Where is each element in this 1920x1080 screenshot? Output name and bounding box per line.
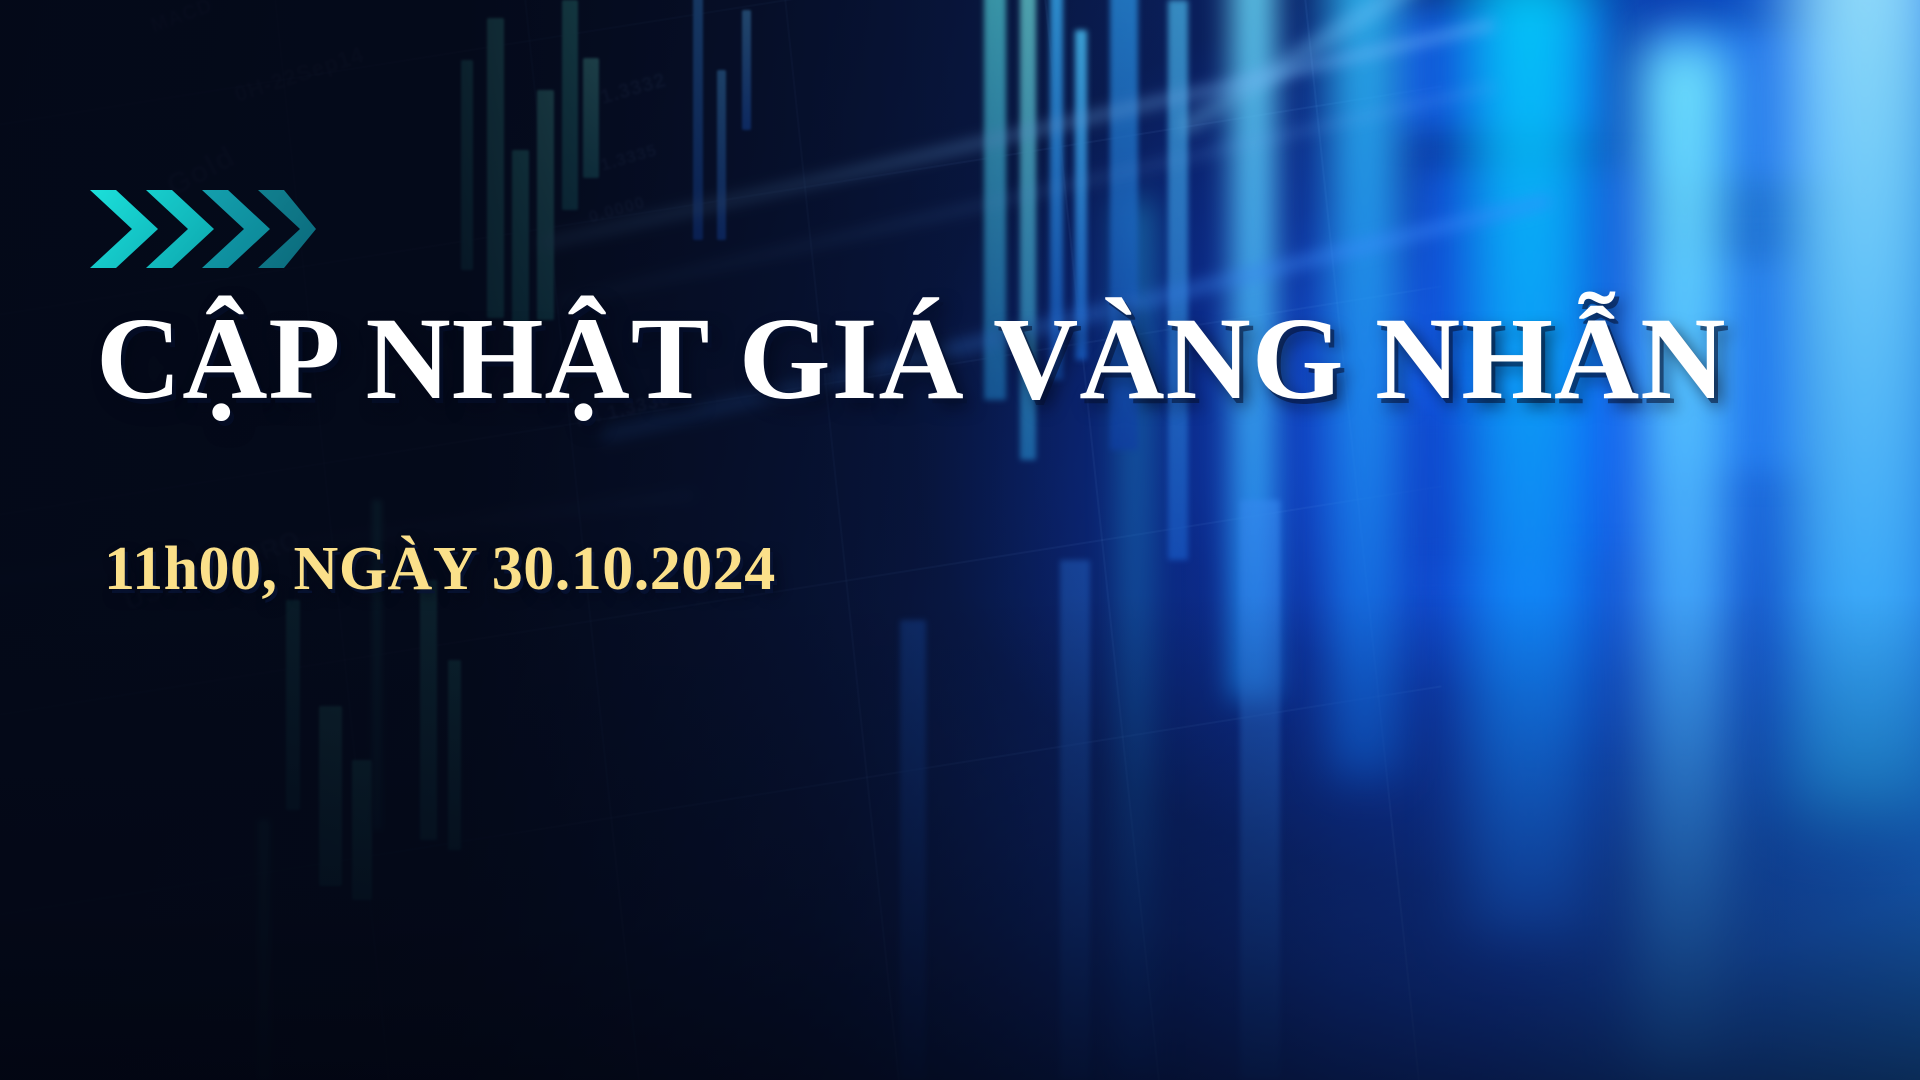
banner-content: CẬP NHẬT GIÁ VÀNG NHẪN 11h00, NGÀY 30.10… xyxy=(0,0,1920,1080)
chevron-arrows-svg xyxy=(88,188,318,270)
page-title: CẬP NHẬT GIÁ VÀNG NHẪN xyxy=(96,300,1436,418)
banner-root: Gold USD/JPY PRO 0H-22Sep14 1.3332 0.000… xyxy=(0,0,1920,1080)
timestamp-subtitle: 11h00, NGÀY 30.10.2024 xyxy=(104,538,776,600)
double-chevron-right-icon xyxy=(88,188,318,270)
